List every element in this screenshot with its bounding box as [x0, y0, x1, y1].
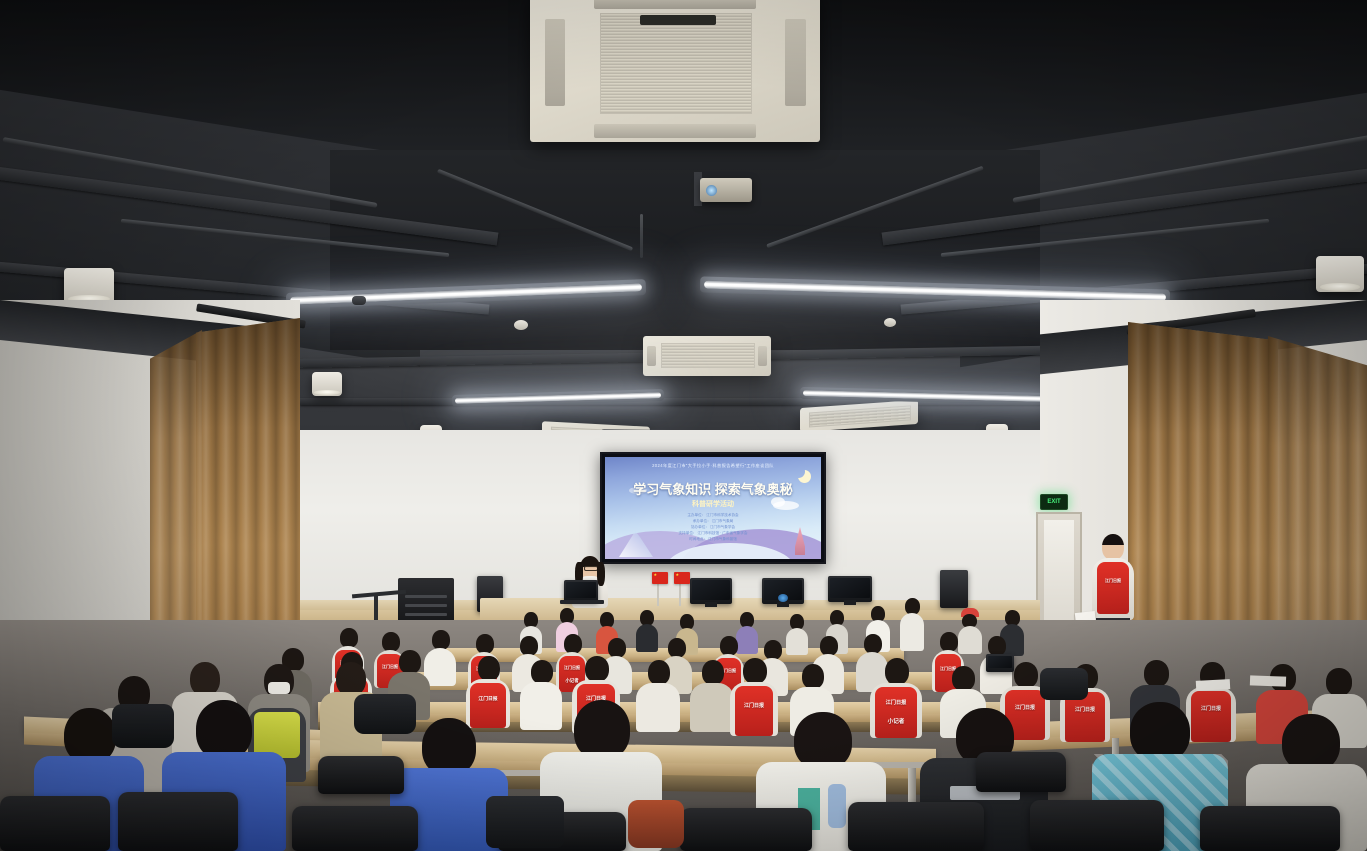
downlight-can-left-2	[312, 372, 342, 396]
slide-meta-line-3: 协办单位： 江门市气象学会	[605, 525, 821, 530]
student-a10	[900, 598, 924, 652]
chair-mid-1[interactable]	[318, 756, 404, 794]
chair-3[interactable]	[292, 806, 418, 851]
downlight-can-right-1	[1316, 256, 1364, 292]
slide-meta-line-5: 时间地点： 江门市气象科普馆	[605, 537, 821, 542]
presenter-glasses-icon	[584, 566, 598, 571]
backpack-5	[1040, 668, 1088, 700]
projection-screen: 2024年度江门市“大手拉小手·科普报告希望行”工作座谈团队 学习气象知识 探索…	[600, 452, 826, 564]
exit-sign: EXIT	[1040, 494, 1068, 510]
flag-star-icon-1: ★	[654, 573, 658, 577]
speaker-right	[940, 570, 968, 608]
backpack-4	[628, 800, 684, 848]
ceiling-slab-center	[330, 150, 1040, 350]
air-conditioner-cassette-mid	[643, 336, 771, 376]
slide-header-text: 2024年度江门市“大手拉小手·科普报告希望行”工作座谈团队	[605, 463, 821, 469]
downlight-can-left-1	[64, 268, 114, 304]
chinese-flag-1: ★	[652, 572, 668, 584]
air-conditioner-cassette-main	[530, 0, 820, 142]
backpack-3	[486, 796, 564, 848]
chair-1[interactable]	[0, 796, 110, 851]
slide-title-text: 学习气象知识 探索气象奥秘	[605, 479, 821, 498]
chair-2[interactable]	[118, 792, 238, 851]
chair-5[interactable]	[680, 808, 812, 851]
presenter-laptop[interactable]	[564, 580, 598, 602]
student-a7	[786, 614, 808, 654]
vest-label-c4: 江门日报	[470, 695, 506, 702]
standing-volunteer-head	[1102, 534, 1124, 560]
exit-sign-label: EXIT	[1047, 499, 1060, 505]
student-a4	[636, 610, 658, 652]
presentation-slide: 2024年度江门市“大手拉小手·科普报告希望行”工作座谈团队 学习气象知识 探索…	[605, 457, 821, 559]
flag-star-icon-2: ★	[676, 573, 680, 577]
backpack-2	[354, 694, 416, 734]
notebook-2	[1250, 675, 1286, 686]
slide-meta-line-4: 支持单位： 江门市科技馆 · 广东省气象学会	[605, 531, 821, 536]
chair-8[interactable]	[1200, 806, 1340, 851]
motion-sensor-icon	[884, 318, 896, 327]
chair-mid-2[interactable]	[976, 752, 1066, 792]
tee-graphic-2	[828, 784, 846, 828]
vest-label-top: 江门日报	[1097, 578, 1129, 584]
ceiling-cable-drop	[640, 214, 643, 258]
chair-6[interactable]	[848, 802, 984, 851]
led-strip-5-body	[352, 296, 366, 305]
desk-monitor-3	[828, 576, 872, 602]
laptop-base	[560, 600, 604, 604]
presenter-hair-side-2	[597, 562, 605, 586]
desk-monitor-3-stand	[844, 600, 856, 605]
slide-subtitle-text: 科普研学活动	[605, 499, 821, 509]
standing-volunteer-vest: 江门日报	[1097, 562, 1129, 614]
smoke-detector-icon	[514, 320, 528, 330]
vest-label-c11: 江门日报	[875, 699, 917, 706]
desk-monitor-1-stand	[705, 602, 717, 607]
chair-7[interactable]	[1030, 800, 1164, 851]
desk-monitor-1	[690, 578, 732, 604]
student-c8	[690, 660, 734, 732]
chinese-flag-2: ★	[674, 572, 690, 584]
notebook-1	[1196, 679, 1230, 691]
rack-arm-post	[374, 594, 378, 620]
slide-meta-line-1: 主办单位： 江门市科学技术协会	[605, 513, 821, 518]
vest-label-c9: 江门日报	[735, 702, 773, 709]
desk-monitor-2-stand	[777, 602, 789, 607]
monitor-2-light	[778, 594, 788, 602]
backpack-1	[112, 704, 174, 748]
slide-meta-line-2: 承办单位： 江门市气象局	[605, 519, 821, 524]
student-laptop-1[interactable]	[986, 654, 1014, 672]
ceiling-projector	[700, 178, 752, 202]
classroom-photo-scene: EXIT 2024年度江门市“大手拉小手·科普报告希望行”工作座谈团队 学习气象…	[0, 0, 1367, 851]
